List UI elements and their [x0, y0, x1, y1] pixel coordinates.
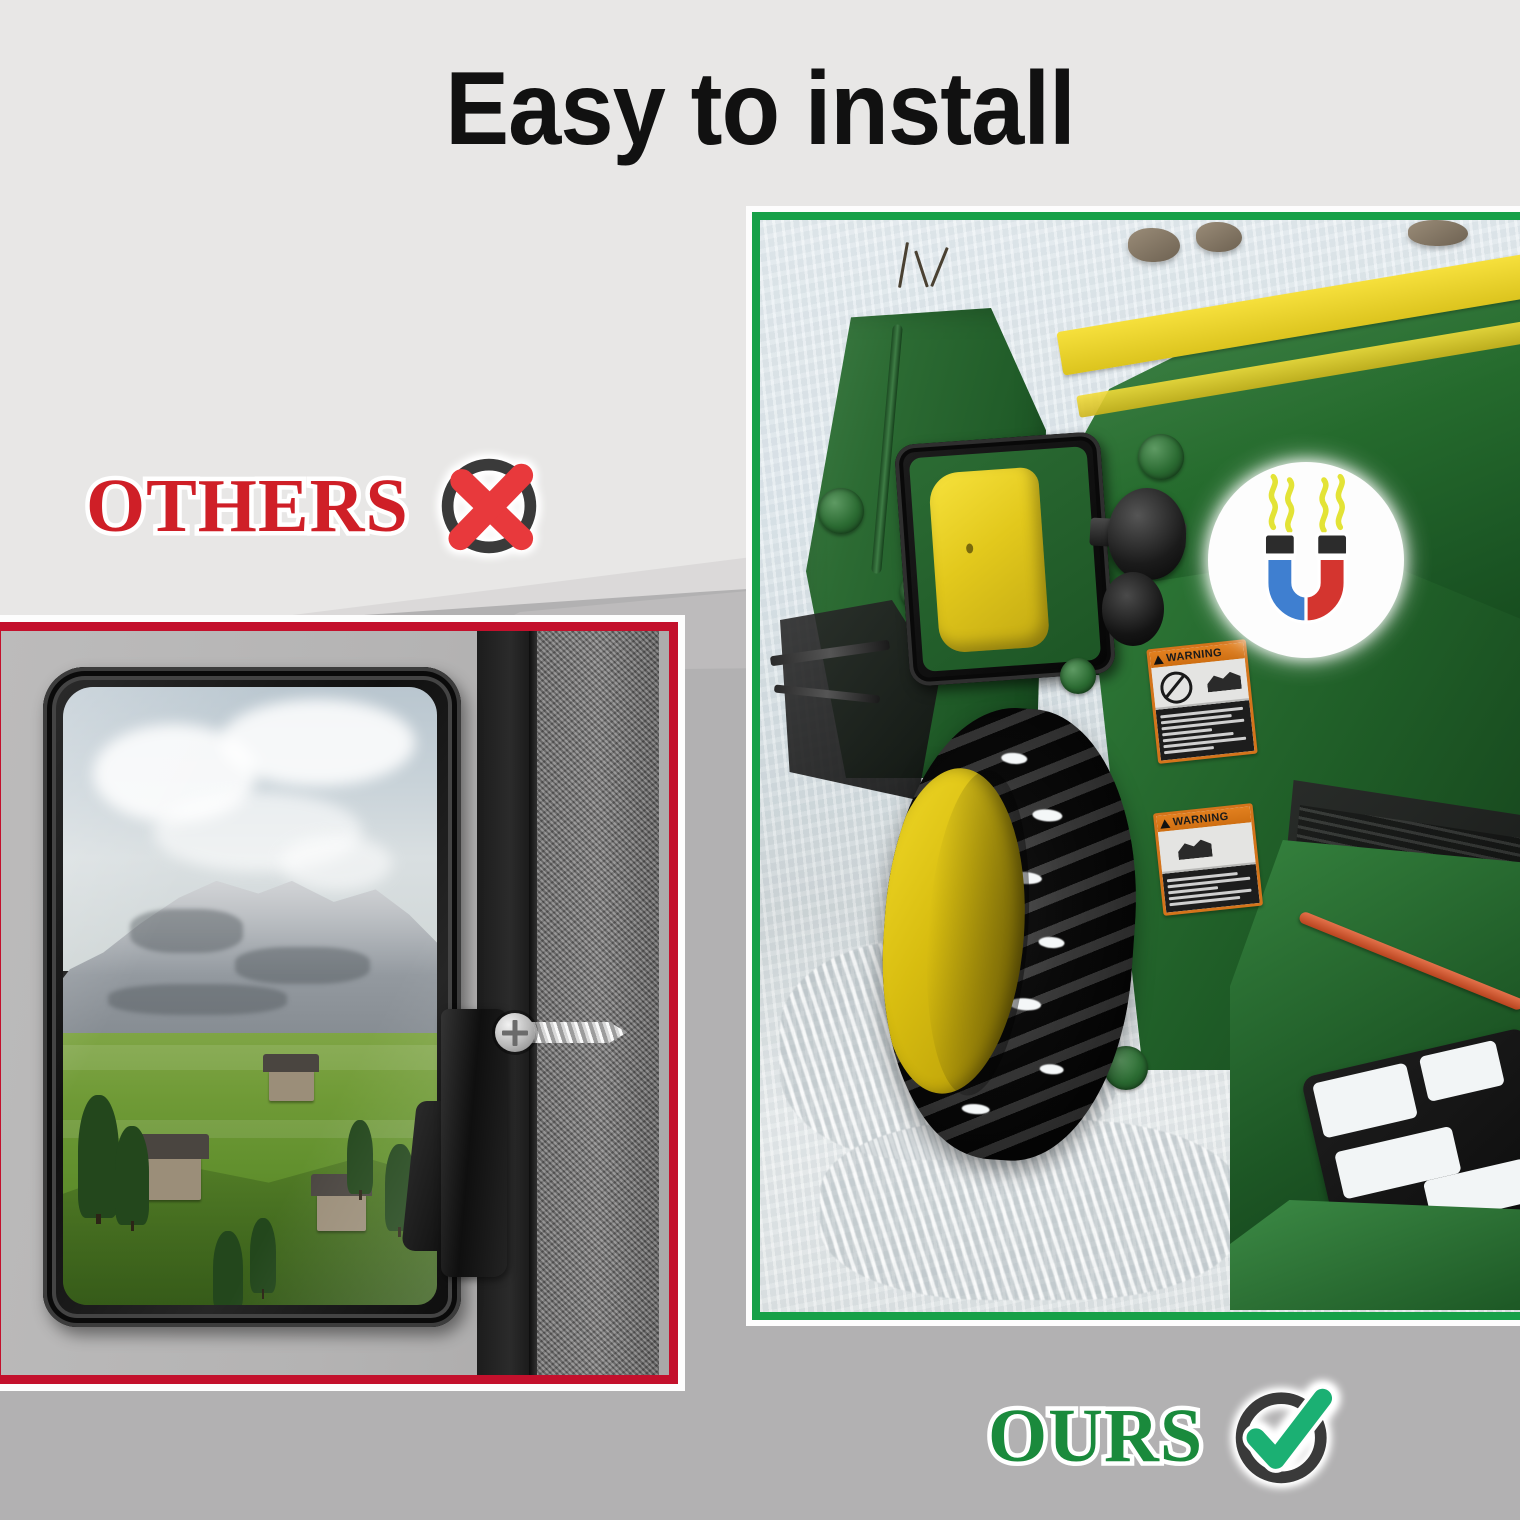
- right-photo-scene: WARNING WARNING: [760, 220, 1520, 1312]
- others-label: OTHERS: [86, 468, 409, 544]
- rock: [1128, 228, 1180, 262]
- screw-head: [495, 1013, 535, 1052]
- others-screw-mount-photo: [0, 622, 678, 1384]
- magnet-base-lower: [1102, 572, 1164, 646]
- mirror-mount-bracket: [441, 1009, 507, 1277]
- magnetic-mirror-product: [894, 431, 1116, 687]
- machine-figure-icon: [1177, 837, 1213, 860]
- frame-bolt: [1060, 658, 1096, 694]
- warning-decal: WARNING: [1153, 803, 1263, 916]
- frame-bolt: [1138, 434, 1184, 480]
- warning-triangle-icon: [1160, 818, 1171, 828]
- magnet-icon: [1208, 462, 1404, 658]
- snow-patch: [1312, 1062, 1418, 1138]
- x-mark-circle-icon: [435, 452, 543, 560]
- screw-thread: [528, 1022, 627, 1043]
- magnet-base-upper: [1108, 488, 1186, 580]
- check-mark-circle-icon: [1229, 1382, 1337, 1490]
- tractor-tire: [869, 700, 1150, 1168]
- ours-label-group: OURS: [988, 1382, 1337, 1490]
- loader-pivot-pin: [818, 488, 864, 534]
- reflected-tractor-seat: [928, 467, 1051, 654]
- glass-reflection-sheen: [63, 687, 437, 1305]
- mirror-glass: [63, 687, 437, 1305]
- rock: [1196, 222, 1242, 252]
- product-mirror-glass: [909, 446, 1101, 672]
- ours-label: OURS: [988, 1398, 1203, 1474]
- snow-patch: [1419, 1040, 1505, 1102]
- door-pillar-textured: [537, 631, 659, 1375]
- warning-triangle-icon: [1153, 654, 1164, 664]
- page-title: Easy to install: [61, 52, 1459, 166]
- lower-green-bumper: [1230, 1200, 1520, 1310]
- mounting-screw-top: [495, 1017, 627, 1047]
- magnet-badge: [1208, 462, 1404, 658]
- promo-image-stage: Easy to install: [0, 0, 1520, 1520]
- warning-decal-body-text: [1156, 700, 1255, 761]
- left-photo-scene: [1, 631, 669, 1375]
- machine-figure-icon: [1206, 669, 1242, 692]
- ours-magnetic-mount-photo: WARNING WARNING: [752, 212, 1520, 1320]
- others-label-group: OTHERS: [86, 452, 543, 560]
- mirror-frame: [43, 667, 461, 1327]
- rock: [1408, 220, 1468, 246]
- seat-detail-hole: [966, 543, 974, 553]
- prohibition-icon: [1159, 670, 1194, 705]
